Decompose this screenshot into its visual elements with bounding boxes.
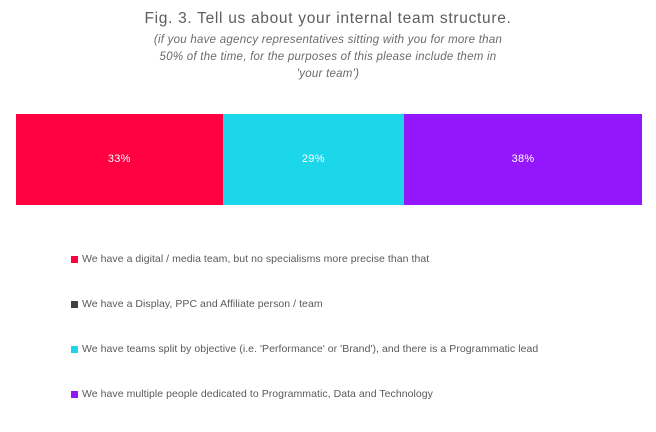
- chart-subtitle-line-2: 50% of the time, for the purposes of thi…: [93, 49, 563, 66]
- legend-item[interactable]: We have a digital / media team, but no s…: [71, 252, 646, 297]
- legend-item[interactable]: We have teams split by objective (i.e. '…: [71, 342, 646, 387]
- legend-item-label: We have a digital / media team, but no s…: [82, 252, 429, 266]
- bar-segment[interactable]: 29%: [223, 114, 405, 205]
- chart-title: Fig. 3. Tell us about your internal team…: [0, 8, 656, 30]
- bar-segment-label: 29%: [302, 154, 325, 165]
- bar-segment-label: 33%: [108, 154, 131, 165]
- legend-item-label: We have a Display, PPC and Affiliate per…: [82, 297, 323, 311]
- legend-item-label: We have teams split by objective (i.e. '…: [82, 342, 538, 356]
- legend-item[interactable]: We have multiple people dedicated to Pro…: [71, 387, 646, 432]
- stacked-bar-chart: 33%29%38%: [16, 114, 642, 205]
- chart-subtitle-line-1: (if you have agency representatives sitt…: [93, 32, 563, 49]
- bar-segment[interactable]: 38%: [404, 114, 642, 205]
- chart-header: Fig. 3. Tell us about your internal team…: [0, 8, 656, 83]
- legend-swatch-icon: [71, 256, 78, 263]
- chart-legend: We have a digital / media team, but no s…: [71, 252, 646, 432]
- legend-swatch-icon: [71, 346, 78, 353]
- bar-segment[interactable]: 33%: [16, 114, 223, 205]
- chart-subtitle: (if you have agency representatives sitt…: [93, 32, 563, 83]
- legend-swatch-icon: [71, 391, 78, 398]
- bar-segment-label: 38%: [512, 154, 535, 165]
- legend-item[interactable]: We have a Display, PPC and Affiliate per…: [71, 297, 646, 342]
- legend-item-label: We have multiple people dedicated to Pro…: [82, 387, 433, 401]
- chart-subtitle-line-3: 'your team'): [93, 66, 563, 83]
- legend-swatch-icon: [71, 301, 78, 308]
